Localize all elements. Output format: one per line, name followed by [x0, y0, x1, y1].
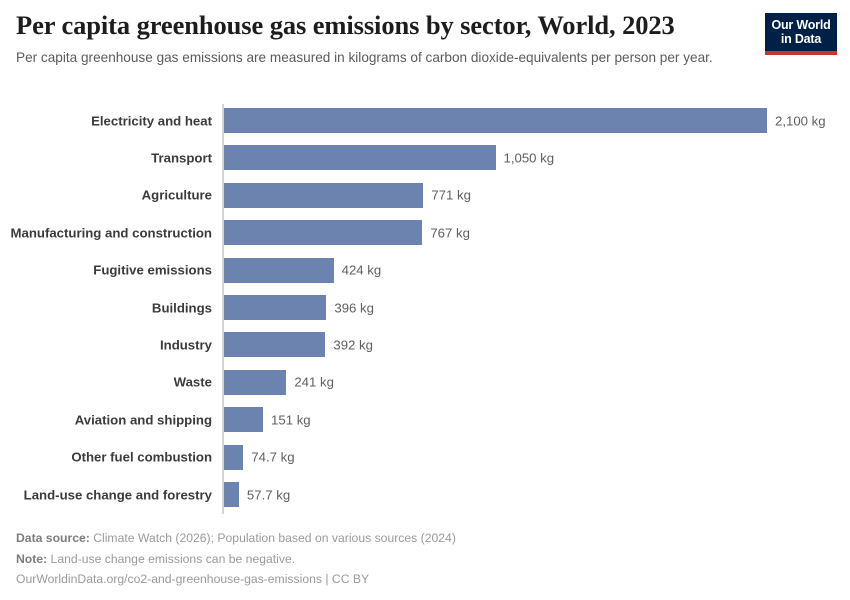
- bar-row[interactable]: Waste241 kg: [0, 370, 850, 395]
- bar-rect[interactable]: [224, 370, 286, 395]
- logo-line-2: in Data: [765, 32, 837, 46]
- bar-category-label: Industry: [0, 338, 212, 351]
- bar-row[interactable]: Aviation and shipping151 kg: [0, 407, 850, 432]
- bar-rect[interactable]: [224, 220, 422, 245]
- bar-value-label: 2,100 kg: [775, 114, 826, 127]
- bar-category-label: Aviation and shipping: [0, 413, 212, 426]
- bar-value-label: 396 kg: [334, 301, 374, 314]
- data-source-text: Climate Watch (2026); Population based o…: [93, 531, 456, 545]
- bar-row[interactable]: Industry392 kg: [0, 332, 850, 357]
- bar-row[interactable]: Electricity and heat2,100 kg: [0, 108, 850, 133]
- chart-header: Per capita greenhouse gas emissions by s…: [16, 10, 761, 68]
- bar-category-label: Fugitive emissions: [0, 263, 212, 276]
- bar-rect[interactable]: [224, 145, 496, 170]
- bar-chart-plot-area: Electricity and heat2,100 kgTransport1,0…: [0, 102, 850, 514]
- bar-row[interactable]: Agriculture771 kg: [0, 183, 850, 208]
- chart-footer: Data source: Climate Watch (2026); Popul…: [16, 528, 776, 590]
- bar-category-label: Other fuel combustion: [0, 450, 212, 463]
- bar-value-label: 1,050 kg: [504, 151, 555, 164]
- bar-value-label: 392 kg: [333, 338, 373, 351]
- data-source-line: Data source: Climate Watch (2026); Popul…: [16, 528, 776, 549]
- bar-category-label: Land-use change and forestry: [0, 488, 212, 501]
- note-label: Note:: [16, 552, 47, 566]
- bar-rect[interactable]: [224, 332, 325, 357]
- bar-rect[interactable]: [224, 482, 239, 507]
- bar-value-label: 767 kg: [430, 226, 470, 239]
- bar-row[interactable]: Buildings396 kg: [0, 295, 850, 320]
- bar-rect[interactable]: [224, 258, 334, 283]
- attribution-line[interactable]: OurWorldinData.org/co2-and-greenhouse-ga…: [16, 569, 776, 590]
- bar-row[interactable]: Manufacturing and construction767 kg: [0, 220, 850, 245]
- note-line: Note: Land-use change emissions can be n…: [16, 549, 776, 570]
- bar-rect[interactable]: [224, 295, 326, 320]
- bar-rect[interactable]: [224, 183, 423, 208]
- bar-value-label: 771 kg: [431, 189, 471, 202]
- chart-page: Per capita greenhouse gas emissions by s…: [0, 0, 850, 600]
- our-world-in-data-logo[interactable]: Our World in Data: [765, 13, 837, 55]
- bar-value-label: 241 kg: [294, 376, 334, 389]
- chart-subtitle: Per capita greenhouse gas emissions are …: [16, 48, 738, 67]
- bar-rect[interactable]: [224, 407, 263, 432]
- bar-value-label: 74.7 kg: [251, 450, 294, 463]
- bar-category-label: Buildings: [0, 301, 212, 314]
- logo-line-1: Our World: [765, 18, 837, 32]
- bar-row[interactable]: Fugitive emissions424 kg: [0, 258, 850, 283]
- bar-category-label: Waste: [0, 376, 212, 389]
- bar-category-label: Agriculture: [0, 189, 212, 202]
- bar-value-label: 57.7 kg: [247, 488, 290, 501]
- bar-rect[interactable]: [224, 108, 767, 133]
- page-title: Per capita greenhouse gas emissions by s…: [16, 10, 761, 40]
- bar-row[interactable]: Land-use change and forestry57.7 kg: [0, 482, 850, 507]
- bar-category-label: Transport: [0, 151, 212, 164]
- bar-value-label: 151 kg: [271, 413, 311, 426]
- data-source-label: Data source:: [16, 531, 90, 545]
- bar-rect[interactable]: [224, 445, 243, 470]
- note-text: Land-use change emissions can be negativ…: [51, 552, 296, 566]
- bar-category-label: Electricity and heat: [0, 114, 212, 127]
- bar-row[interactable]: Other fuel combustion74.7 kg: [0, 445, 850, 470]
- bar-category-label: Manufacturing and construction: [0, 226, 212, 239]
- bar-value-label: 424 kg: [342, 263, 382, 276]
- bar-row[interactable]: Transport1,050 kg: [0, 145, 850, 170]
